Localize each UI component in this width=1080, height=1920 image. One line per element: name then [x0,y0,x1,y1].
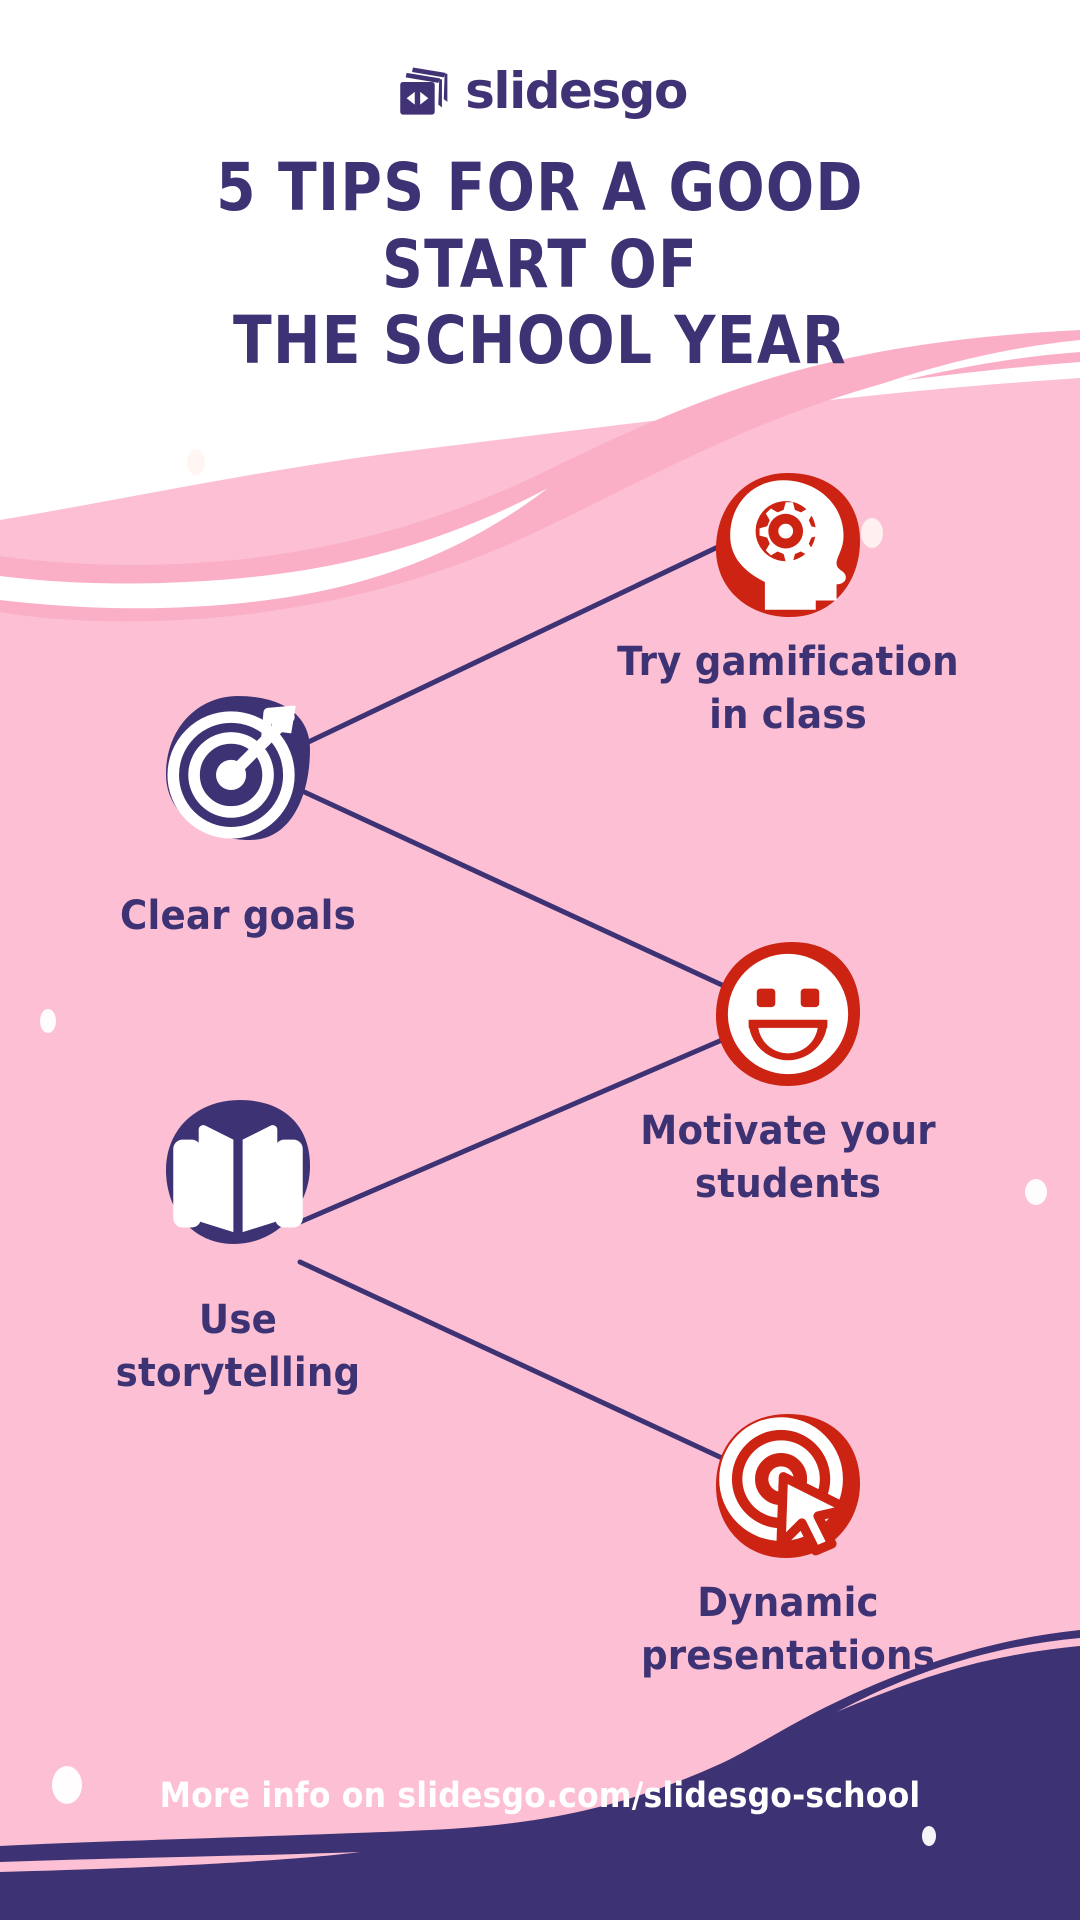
smiley-face-icon [714,940,862,1088]
connector-goals-to-motivate [300,790,722,985]
target-dart-icon [164,694,312,842]
page-title-line2: The School Year [119,303,962,380]
node-label-use-storytelling: Use storytelling [80,1294,396,1400]
page-title-line1: 5 Tips For A Good Start Of [119,150,962,303]
pink-sliver-footer [0,1852,360,1872]
node-try-gamification[interactable]: Try gamification in class [714,471,862,619]
brand-logo-text: slidesgo [465,66,687,116]
head-gear-icon [714,471,862,619]
node-label-motivate-students: Motivate your students [564,1105,1012,1211]
infographic-poster: slidesgo 5 Tips For A Good Start Of The … [0,0,1080,1920]
decor-dot-5 [922,1826,936,1846]
node-label-dynamic-presentations: Dynamic presentations [564,1577,1012,1683]
node-clear-goals[interactable]: Clear goals [164,694,312,842]
node-shape-try-gamification [714,471,862,619]
decor-dot-3 [1025,1179,1047,1205]
page-title: 5 Tips For A Good Start Of The School Ye… [119,150,962,380]
brand-logo[interactable]: slidesgo [0,62,1080,120]
slides-stack-icon [393,62,451,120]
decor-dot-1 [187,449,205,475]
node-label-clear-goals: Clear goals [80,890,396,943]
node-shape-use-storytelling [164,1098,312,1246]
white-ribbon-sliver [0,488,548,608]
node-shape-dynamic-presentations [714,1412,862,1560]
node-use-storytelling[interactable]: Use storytelling [164,1098,312,1246]
header: slidesgo 5 Tips For A Good Start Of The … [0,0,1080,395]
decor-dot-2 [40,1009,56,1033]
node-motivate-students[interactable]: Motivate your students [714,940,862,1088]
node-dynamic-presentations[interactable]: Dynamic presentations [714,1412,862,1560]
node-shape-motivate-students [714,940,862,1088]
cursor-target-icon [714,1412,862,1560]
footer-link[interactable]: More info on slidesgo.com/slidesgo-schoo… [54,1776,1026,1816]
open-book-icon [164,1098,312,1246]
decor-dot-6 [861,518,883,548]
node-shape-clear-goals [164,694,312,842]
node-label-try-gamification: Try gamification in class [564,636,1012,742]
